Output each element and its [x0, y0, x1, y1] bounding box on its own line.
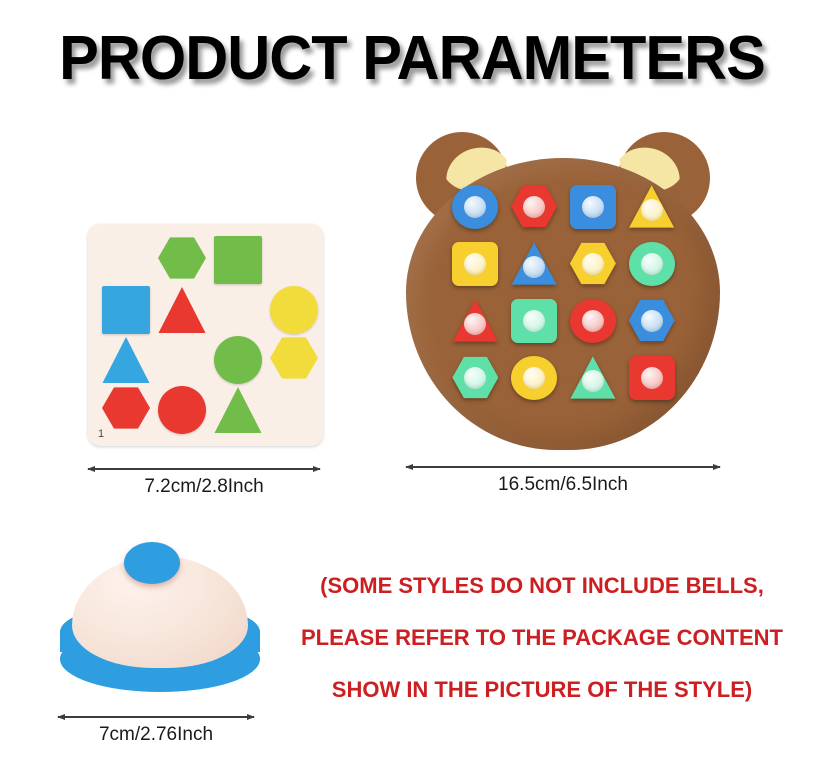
peg-green-circle[interactable]	[629, 242, 675, 286]
peg-yellow-square[interactable]	[452, 242, 498, 286]
dimension-arrow-line	[88, 468, 320, 470]
card-shape-red-hexagon	[102, 386, 150, 430]
peg-knob	[523, 310, 545, 332]
peg-knob	[523, 367, 545, 389]
dimension-bell: 7cm/2.76Inch	[58, 716, 254, 746]
peg-blue-square[interactable]	[570, 185, 616, 229]
peg-knob	[641, 367, 663, 389]
peg-blue-hexagon[interactable]	[629, 299, 675, 343]
product-parameters-page: PRODUCT PARAMETERS 1 7.2cm/2.8Inch 16.5c…	[0, 0, 824, 783]
dimension-card-label: 7.2cm/2.8Inch	[88, 476, 320, 498]
pattern-card-number: 1	[98, 428, 104, 440]
peg-knob	[641, 253, 663, 275]
peg-slot	[505, 349, 564, 406]
dimension-bear-label: 16.5cm/6.5Inch	[406, 474, 720, 496]
peg-slot	[446, 349, 505, 406]
dimension-card: 7.2cm/2.8Inch	[88, 468, 320, 498]
peg-slot	[505, 235, 564, 292]
peg-slot	[622, 178, 681, 235]
dimension-arrow-line	[58, 716, 254, 718]
peg-red-hexagon[interactable]	[511, 185, 557, 229]
pattern-card: 1	[88, 224, 323, 446]
peg-slot	[505, 178, 564, 235]
peg-knob	[582, 253, 604, 275]
peg-slot	[622, 235, 681, 292]
peg-knob	[523, 196, 545, 218]
peg-knob	[582, 196, 604, 218]
bear-board-figure	[398, 132, 728, 452]
dimension-bear-board: 16.5cm/6.5Inch	[406, 466, 720, 496]
card-shape-blue-triangle	[102, 336, 150, 384]
peg-blue-circle[interactable]	[452, 185, 498, 229]
peg-slot	[564, 292, 623, 349]
card-shape-blue-square	[102, 286, 150, 334]
peg-slot	[564, 235, 623, 292]
peg-slot	[564, 178, 623, 235]
card-shape-yellow-circle	[270, 286, 318, 334]
card-shape-red-triangle	[158, 286, 206, 334]
peg-knob	[641, 199, 663, 221]
card-shape-green-square	[214, 236, 262, 284]
card-shape-red-circle	[158, 386, 206, 434]
peg-green-hexagon[interactable]	[452, 356, 498, 400]
peg-knob	[641, 310, 663, 332]
peg-slot	[446, 235, 505, 292]
peg-knob	[464, 253, 486, 275]
card-shape-yellow-hexagon	[270, 336, 318, 380]
notice-line-2: PLEASE REFER TO THE PACKAGE CONTENT	[268, 612, 816, 664]
peg-knob	[523, 256, 545, 278]
card-shape-green-hexagon	[158, 236, 206, 280]
peg-knob	[582, 310, 604, 332]
peg-yellow-hexagon[interactable]	[570, 242, 616, 286]
peg-green-triangle[interactable]	[570, 356, 616, 400]
peg-slot	[446, 292, 505, 349]
peg-yellow-circle[interactable]	[511, 356, 557, 400]
notice-line-3: SHOW IN THE PICTURE OF THE STYLE)	[268, 664, 816, 716]
peg-knob	[464, 367, 486, 389]
peg-green-square[interactable]	[511, 299, 557, 343]
service-bell	[60, 540, 270, 700]
peg-slot	[446, 178, 505, 235]
dimension-bell-label: 7cm/2.76Inch	[58, 724, 254, 746]
notice-line-1: (SOME STYLES DO NOT INCLUDE BELLS,	[268, 560, 816, 612]
peg-slot	[505, 292, 564, 349]
bear-peg-grid	[446, 178, 681, 406]
peg-yellow-triangle[interactable]	[629, 185, 675, 229]
card-shape-green-triangle	[214, 386, 262, 434]
pattern-card-figure: 1	[88, 224, 323, 446]
card-shape-green-circle	[214, 336, 262, 384]
dimension-arrow-line	[406, 466, 720, 468]
peg-knob	[582, 370, 604, 392]
peg-slot	[622, 292, 681, 349]
peg-red-triangle[interactable]	[452, 299, 498, 343]
page-title: PRODUCT PARAMETERS	[16, 28, 807, 90]
peg-knob	[464, 196, 486, 218]
bell-button[interactable]	[124, 542, 180, 584]
peg-slot	[564, 349, 623, 406]
peg-slot	[622, 349, 681, 406]
peg-red-circle[interactable]	[570, 299, 616, 343]
peg-red-square[interactable]	[629, 356, 675, 400]
bells-notice: (SOME STYLES DO NOT INCLUDE BELLS, PLEAS…	[268, 560, 816, 716]
peg-blue-triangle[interactable]	[511, 242, 557, 286]
